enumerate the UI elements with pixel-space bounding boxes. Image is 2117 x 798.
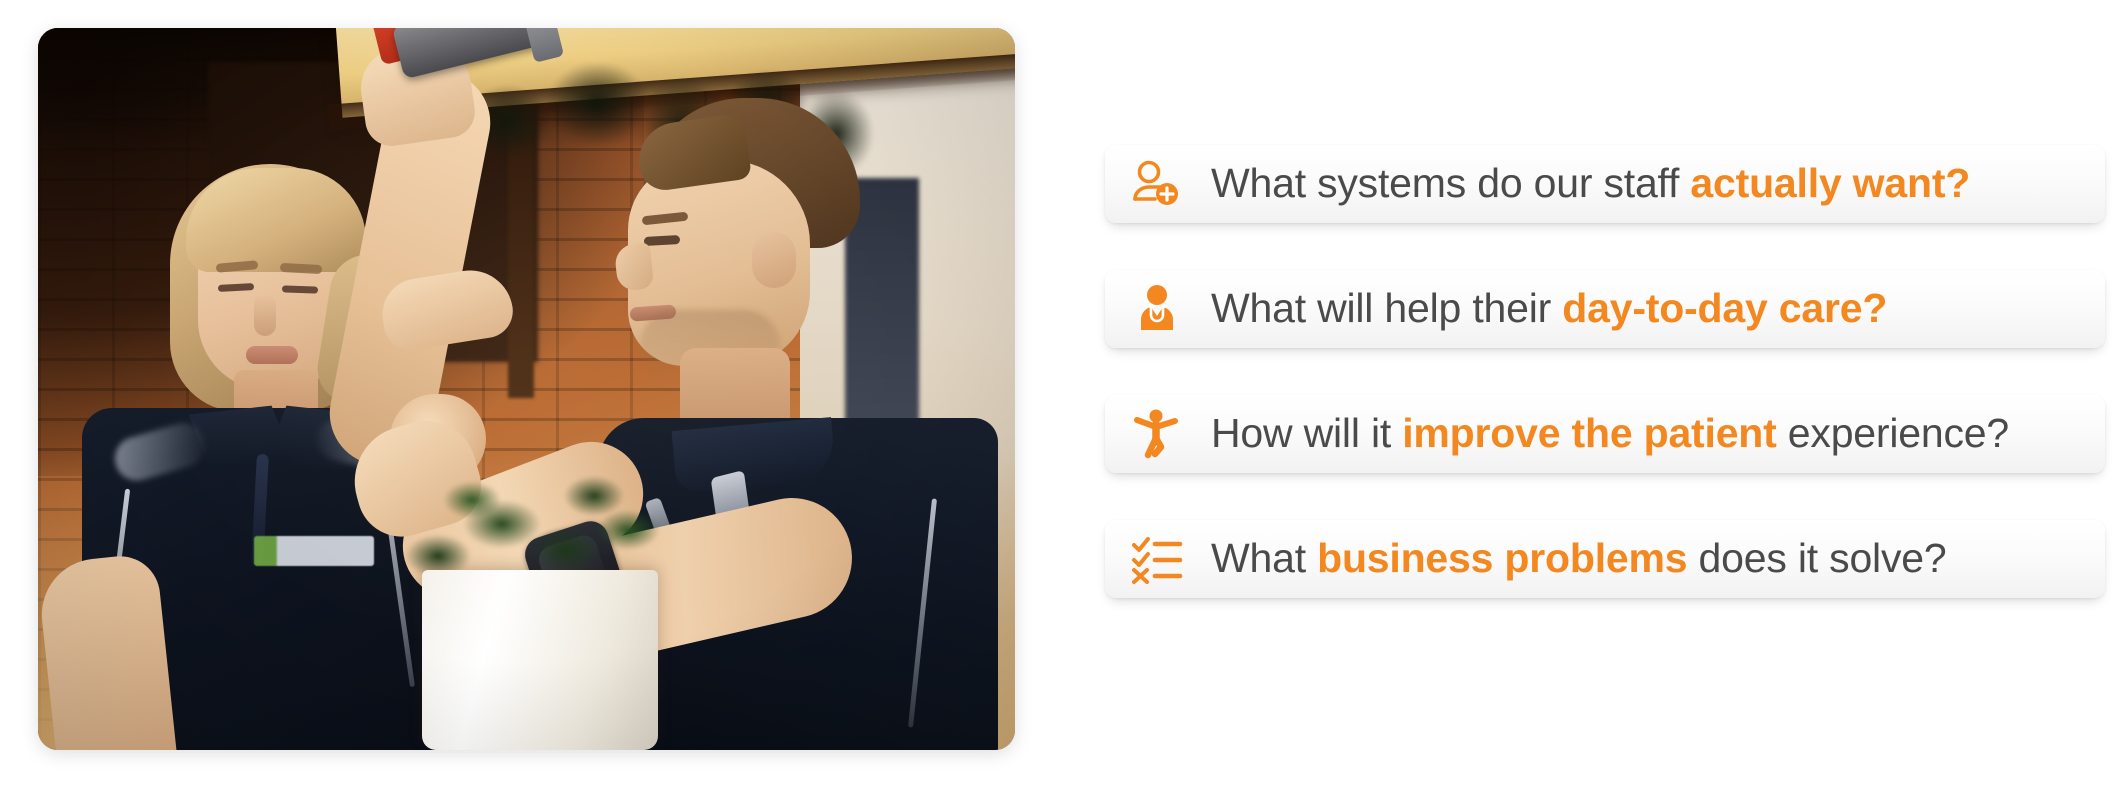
slide-root: What systems do our staff actually want?… [0, 0, 2117, 798]
question-highlight: improve the patient [1402, 410, 1776, 456]
male-ear [752, 232, 796, 288]
male-eye [644, 235, 680, 246]
question-lead: What systems do our staff [1211, 160, 1690, 206]
white-planter-pot [422, 570, 658, 750]
female-eye-right [282, 285, 318, 293]
female-hair-front [186, 168, 366, 272]
female-nose [254, 294, 276, 336]
question-text: What business problems does it solve? [1211, 537, 1946, 580]
question-highlight: day-to-day care? [1562, 285, 1887, 331]
female-lips [246, 346, 298, 364]
question-lead: What [1211, 535, 1317, 581]
physiotherapy-photo [38, 28, 1015, 750]
question-card[interactable]: What business problems does it solve? [1105, 520, 2105, 598]
question-highlight: business problems [1317, 535, 1687, 581]
doctor-stethoscope-icon [1129, 281, 1185, 337]
question-card[interactable]: What systems do our staff actually want? [1105, 145, 2105, 223]
checklist-icon [1129, 531, 1185, 587]
clinic-logo-embroidery [254, 536, 374, 566]
question-text: What systems do our staff actually want? [1211, 162, 1970, 205]
question-text: What will help their day-to-day care? [1211, 287, 1887, 330]
question-trail: does it solve? [1687, 535, 1946, 581]
male-nose [614, 242, 655, 292]
question-lead: How will it [1211, 410, 1402, 456]
question-card-list: What systems do our staff actually want?… [1105, 145, 2105, 598]
photo-scene [38, 28, 1015, 750]
question-card[interactable]: How will it improve the patient experien… [1105, 395, 2105, 473]
question-trail: experience? [1777, 410, 2009, 456]
question-card[interactable]: What will help their day-to-day care? [1105, 270, 2105, 348]
question-text: How will it improve the patient experien… [1211, 412, 2009, 455]
question-highlight: actually want? [1690, 160, 1970, 206]
add-user-icon [1129, 156, 1185, 212]
active-person-icon [1129, 406, 1185, 462]
question-lead: What will help their [1211, 285, 1562, 331]
